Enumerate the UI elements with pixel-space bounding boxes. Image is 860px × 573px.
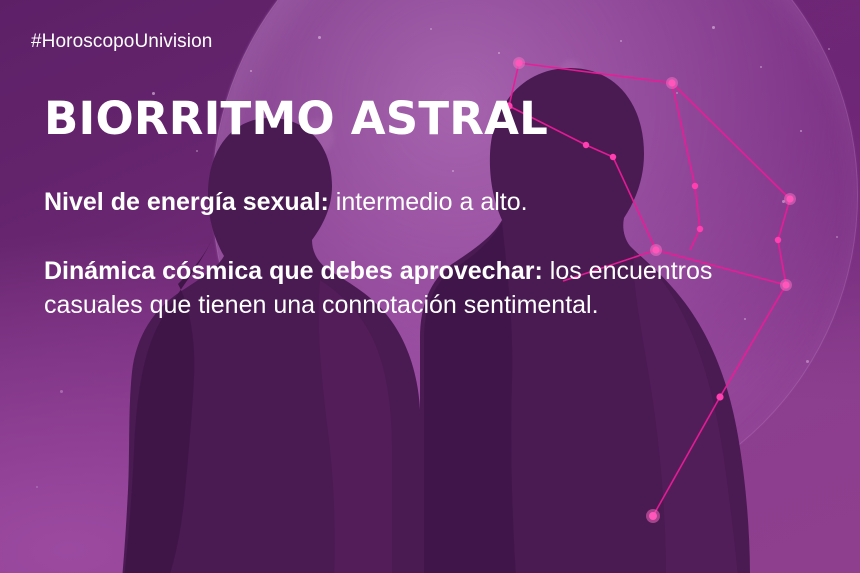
paragraph-energy-rest: intermedio a alto.: [329, 188, 528, 216]
paragraph-energy-lead: Nivel de energía sexual:: [44, 188, 329, 216]
paragraph-energy: Nivel de energía sexual: intermedio a al…: [44, 186, 804, 219]
paragraph-dynamic-lead: Dinámica cósmica que debes aprovechar:: [44, 257, 543, 285]
body-text: Nivel de energía sexual: intermedio a al…: [44, 186, 804, 322]
page-title: BIORRITMO ASTRAL: [44, 96, 548, 141]
horoscope-graphic: #HoroscopoUnivision BIORRITMO ASTRAL Niv…: [0, 0, 860, 573]
paragraph-dynamic: Dinámica cósmica que debes aprovechar: l…: [44, 255, 804, 322]
hashtag-label: #HoroscopoUnivision: [31, 31, 212, 53]
